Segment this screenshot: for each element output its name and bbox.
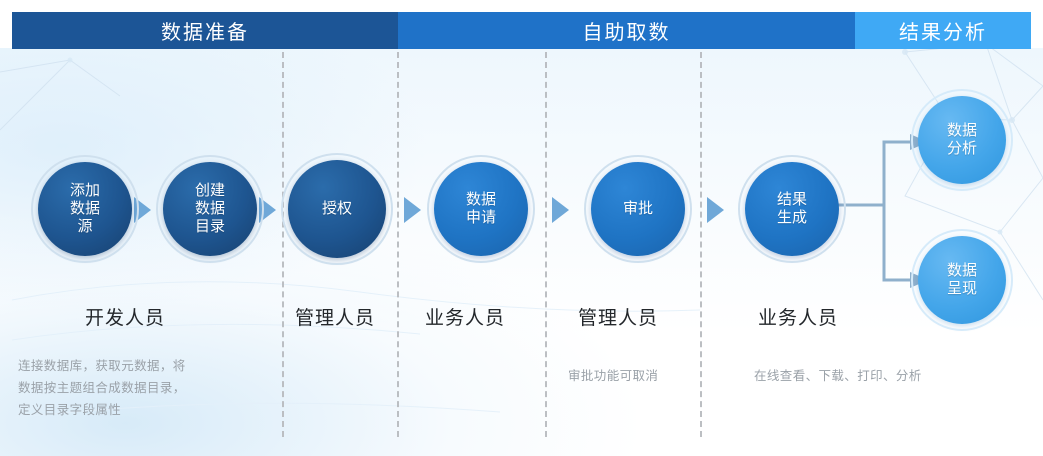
node-label: 创建 数据 目录: [195, 182, 225, 235]
step-arrow-3: [404, 197, 421, 223]
role-label-developer: 开发人员: [85, 303, 165, 330]
node-authorize[interactable]: 授权: [288, 160, 386, 258]
step-arrow-4: [552, 197, 569, 223]
role-label-business-1: 业务人员: [425, 303, 505, 330]
diagram-canvas: 数据准备 自助取数 结果分析 添加 数据 源 创建 数据 目录: [0, 0, 1043, 456]
role-label-business-2: 业务人员: [758, 303, 838, 330]
node-add-datasource[interactable]: 添加 数据 源: [38, 162, 132, 256]
node-label: 数据 申请: [466, 191, 496, 226]
role-label-admin-2: 管理人员: [578, 303, 658, 330]
phase-tab-data-prep[interactable]: 数据准备: [12, 12, 398, 49]
phase-tab-self-service[interactable]: 自助取数: [398, 12, 855, 49]
node-data-presentation[interactable]: 数据 呈现: [918, 236, 1006, 324]
phase-header-bar: 数据准备 自助取数 结果分析: [12, 12, 1031, 49]
lane-divider-3: [545, 52, 549, 437]
node-approval[interactable]: 审批: [591, 162, 685, 256]
lane-divider-1: [282, 52, 286, 437]
phase-label: 数据准备: [161, 16, 249, 45]
node-label: 添加 数据 源: [70, 182, 100, 235]
description-result: 在线查看、下载、打印、分析: [754, 366, 994, 388]
step-arrow-5: [707, 197, 724, 223]
node-label: 数据 分析: [947, 122, 977, 157]
lane-divider-2: [397, 52, 401, 437]
node-label: 结果 生成: [777, 191, 807, 226]
description-approval: 审批功能可取消: [568, 366, 708, 388]
node-result-generation[interactable]: 结果 生成: [745, 162, 839, 256]
phase-label: 结果分析: [899, 16, 987, 45]
node-label: 授权: [322, 200, 352, 218]
phase-tab-result-analysis[interactable]: 结果分析: [855, 12, 1031, 49]
description-data-prep: 连接数据库，获取元数据，将 数据按主题组合成数据目录， 定义目录字段属性: [18, 356, 268, 422]
node-label: 审批: [623, 200, 653, 218]
phase-label: 自助取数: [583, 16, 671, 45]
node-create-catalog[interactable]: 创建 数据 目录: [163, 162, 257, 256]
node-data-analysis[interactable]: 数据 分析: [918, 96, 1006, 184]
role-label-admin-1: 管理人员: [295, 303, 375, 330]
node-label: 数据 呈现: [947, 262, 977, 297]
node-data-request[interactable]: 数据 申请: [434, 162, 528, 256]
